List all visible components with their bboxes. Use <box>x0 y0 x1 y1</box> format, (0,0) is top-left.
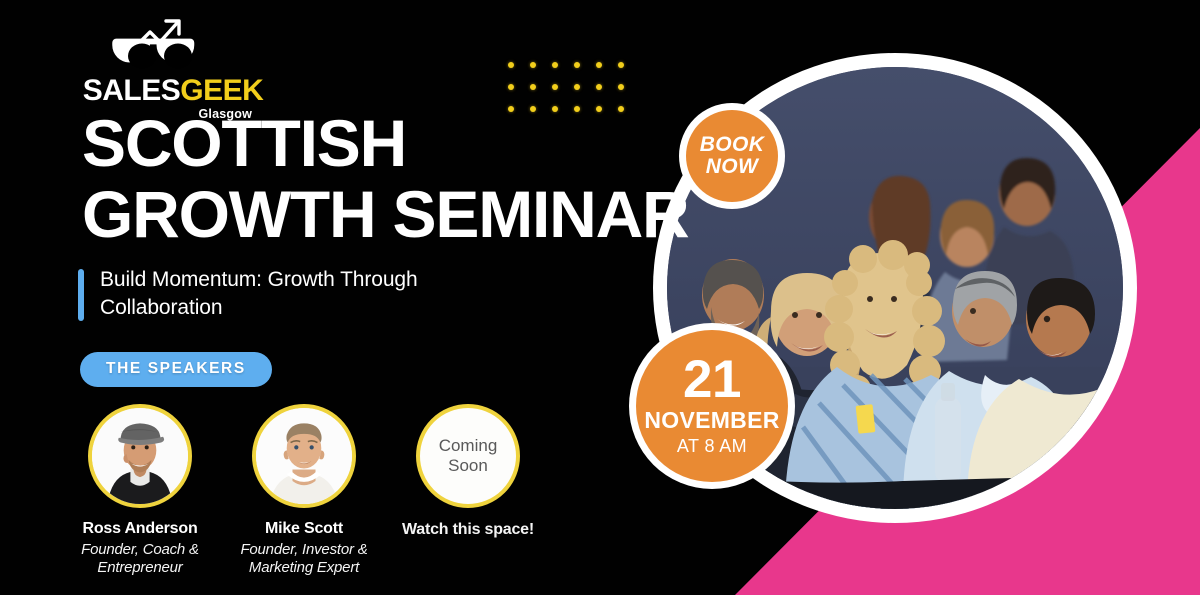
speaker-card-mike-scott[interactable]: Mike Scott Founder, Investor & Marketing… <box>234 404 374 577</box>
headline-line-2: GROWTH SEMINAR <box>82 179 689 250</box>
grid-dot <box>508 62 514 68</box>
grid-dot <box>508 84 514 90</box>
date-time: AT 8 AM <box>677 436 747 457</box>
grid-dot <box>552 84 558 90</box>
avatar-mike-scott <box>252 404 356 508</box>
logo-wordmark: SALESGEEK <box>78 76 268 106</box>
date-month: NOVEMBER <box>644 407 779 433</box>
avatar-ross-anderson <box>88 404 192 508</box>
coming-soon-label: Coming Soon <box>439 436 498 477</box>
watch-this-space-label: Watch this space! <box>398 520 538 539</box>
speaker-role: Founder, Coach & Entrepreneur <box>70 541 210 577</box>
speaker-name: Mike Scott <box>234 520 374 538</box>
avatar-coming-soon-placeholder: Coming Soon <box>416 404 520 508</box>
event-date-badge: 21 NOVEMBER AT 8 AM <box>636 330 788 482</box>
book-now-line-2: NOW <box>706 156 759 178</box>
subtitle-block: Build Momentum: Growth Through Collabora… <box>78 266 498 321</box>
headline-line-1: SCOTTISH <box>82 108 689 179</box>
subtitle-text: Build Momentum: Growth Through Collabora… <box>100 266 498 321</box>
grid-dot <box>530 84 536 90</box>
speaker-card-ross-anderson[interactable]: Ross Anderson Founder, Coach & Entrepren… <box>70 404 210 577</box>
speaker-card-coming-soon[interactable]: Coming Soon Watch this space! <box>398 404 538 577</box>
glasses-growth-arrow-icon <box>78 18 268 74</box>
coming-soon-line-1: Coming <box>439 436 498 456</box>
grid-dot <box>596 62 602 68</box>
logo-word-geek: GEEK <box>180 74 263 107</box>
grid-dot <box>552 62 558 68</box>
grid-dot <box>618 62 624 68</box>
grid-dot <box>574 62 580 68</box>
book-now-button[interactable]: BOOK NOW <box>686 110 778 202</box>
grid-dot <box>574 84 580 90</box>
page-title: SCOTTISH GROWTH SEMINAR <box>82 108 689 251</box>
book-now-line-1: BOOK <box>700 134 765 156</box>
coming-soon-line-2: Soon <box>439 456 498 476</box>
grid-dot <box>618 84 624 90</box>
speaker-role: Founder, Investor & Marketing Expert <box>234 541 374 577</box>
date-day: 21 <box>683 355 741 405</box>
grid-dot <box>596 84 602 90</box>
the-speakers-badge: THE SPEAKERS <box>80 352 272 387</box>
speaker-name: Ross Anderson <box>70 520 210 538</box>
grid-dot <box>530 62 536 68</box>
logo-word-sales: SALES <box>83 74 181 107</box>
speakers-list: Ross Anderson Founder, Coach & Entrepren… <box>70 404 538 577</box>
subtitle-accent-bar <box>78 269 84 321</box>
event-banner: SALESGEEK Glasgow SCOTTISH GROWTH SEMINA… <box>0 0 1200 595</box>
